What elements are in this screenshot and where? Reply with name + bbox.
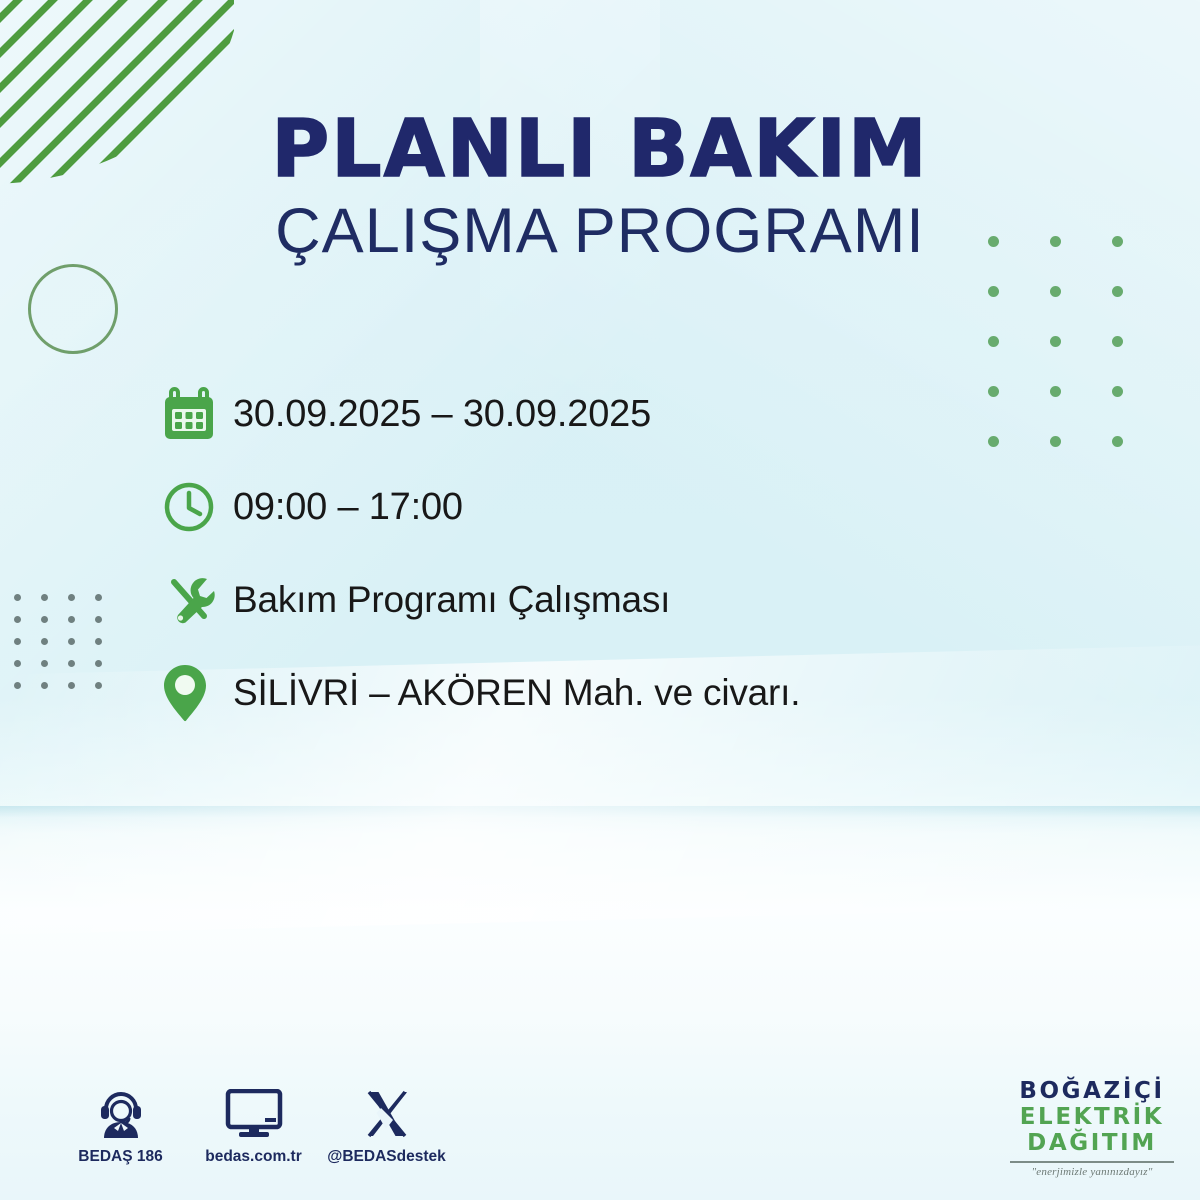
detail-row-time: 09:00 – 17:00 (163, 471, 1063, 543)
clock-icon (163, 476, 233, 538)
contact-phone-label: BEDAŞ 186 (78, 1148, 162, 1166)
contact-social[interactable]: @BEDASdestek (320, 1083, 453, 1166)
brand-logo: BOĞAZİÇİ ELEKTRİK DAĞITIM "enerjimizle y… (1006, 1078, 1178, 1178)
page-subtitle: ÇALIŞMA PROGRAMI (0, 200, 1200, 263)
brand-tagline: "enerjimizle yanınızdayız" (1006, 1166, 1178, 1178)
brand-logo-line-1: BOĞAZİÇİ (1006, 1078, 1178, 1104)
contact-website[interactable]: bedas.com.tr (187, 1083, 320, 1166)
footer-contact-bar: BEDAŞ 186 bedas.com.tr @BEDASdestek (54, 1083, 453, 1166)
detail-value-time: 09:00 – 17:00 (233, 486, 463, 529)
circle-outline-decoration (28, 264, 118, 354)
brand-logo-divider (1010, 1161, 1174, 1163)
calendar-icon (163, 383, 233, 445)
map-pin-icon (163, 662, 233, 724)
contact-social-label: @BEDASdestek (327, 1148, 445, 1166)
detail-value-work-type: Bakım Programı Çalışması (233, 579, 670, 621)
brand-logo-line-3: DAĞITIM (1006, 1130, 1178, 1156)
detail-row-date: 30.09.2025 – 30.09.2025 (163, 378, 1063, 450)
detail-row-location: SİLİVRİ – AKÖREN Mah. ve civarı. (163, 657, 1063, 729)
detail-row-work-type: Bakım Programı Çalışması (163, 564, 1063, 636)
detail-value-location: SİLİVRİ – AKÖREN Mah. ve civarı. (233, 672, 800, 714)
tools-icon (163, 569, 233, 631)
maintenance-details-list: 30.09.2025 – 30.09.2025 09:00 – 17:00 Ba… (163, 378, 1063, 729)
brand-logo-line-2: ELEKTRİK (1006, 1104, 1178, 1130)
dot-grid-left-decoration (14, 594, 122, 704)
contact-website-label: bedas.com.tr (205, 1148, 301, 1166)
detail-value-date: 30.09.2025 – 30.09.2025 (233, 393, 651, 436)
contact-phone[interactable]: BEDAŞ 186 (54, 1083, 187, 1166)
x-twitter-icon (362, 1083, 412, 1139)
headset-support-icon (96, 1083, 146, 1139)
monitor-icon (225, 1083, 283, 1139)
poster-header: PLANLI BAKIM ÇALIŞMA PROGRAMI (0, 112, 1200, 263)
page-title: PLANLI BAKIM (0, 112, 1200, 186)
